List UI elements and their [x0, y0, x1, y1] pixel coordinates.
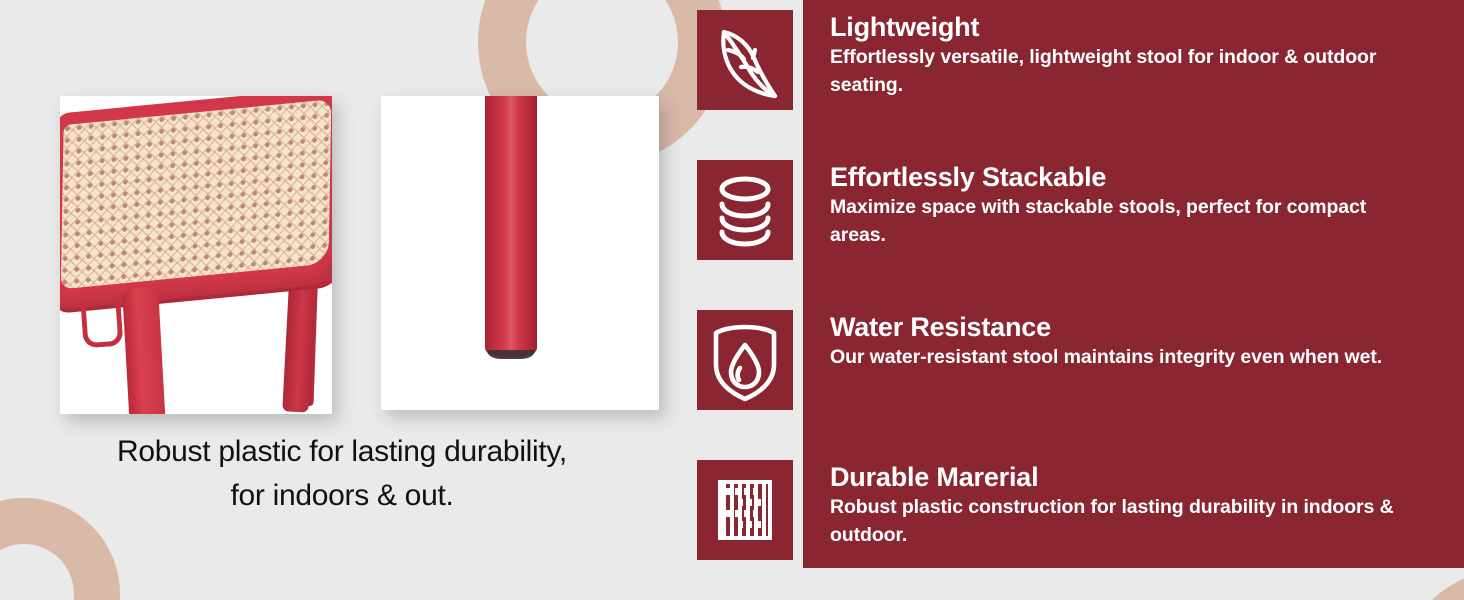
- stool-leg-closeup-photo: [381, 96, 659, 410]
- feature-row-lightweight: Lightweight Effortlessly versatile, ligh…: [803, 0, 1464, 150]
- feature-icon-tile-durable-material: [697, 460, 793, 560]
- feature-icon-tile-lightweight: [697, 10, 793, 110]
- feature-title-stackable: Effortlessly Stackable: [830, 162, 1444, 192]
- stool-leg-front: [122, 287, 166, 414]
- feature-desc-durable-material: Robust plastic construction for lasting …: [830, 494, 1420, 549]
- feature-title-durable-material: Durable Marerial: [830, 462, 1444, 492]
- stool-seat-frame: [60, 96, 332, 310]
- mesh-brick-icon: [718, 480, 772, 540]
- stool-leg-tube: [485, 96, 537, 358]
- stacked-discs-icon: [697, 160, 793, 260]
- feature-row-stackable: Effortlessly Stackable Maximize space wi…: [803, 150, 1464, 300]
- left-caption-line-1: Robust plastic for lasting durability,: [24, 430, 660, 474]
- left-caption-line-2: for indoors & out.: [24, 474, 660, 518]
- leaf-icon: [697, 10, 793, 110]
- feature-desc-water-resistance: Our water-resistant stool maintains inte…: [830, 344, 1420, 372]
- product-photo-section: Robust plastic for lasting durability, f…: [0, 0, 684, 600]
- feature-title-water-resistance: Water Resistance: [830, 312, 1444, 342]
- stool-leg-foot-cap: [487, 350, 535, 359]
- feature-desc-lightweight: Effortlessly versatile, lightweight stoo…: [830, 44, 1420, 99]
- mesh-brick-icon-rows: [726, 488, 764, 532]
- features-panel: Lightweight Effortlessly versatile, ligh…: [803, 0, 1464, 568]
- stool-seat-illustration: [60, 96, 332, 414]
- feature-title-lightweight: Lightweight: [830, 12, 1444, 42]
- feature-icon-tile-stackable: [697, 160, 793, 260]
- left-caption: Robust plastic for lasting durability, f…: [24, 430, 660, 518]
- stool-seat-closeup-photo: [60, 96, 332, 414]
- shield-water-drop-icon: [697, 310, 793, 410]
- infographic-canvas: Robust plastic for lasting durability, f…: [0, 0, 1464, 600]
- feature-icon-tile-water-resistance: [697, 310, 793, 410]
- stool-stack-hook: [80, 301, 123, 349]
- feature-row-water-resistance: Water Resistance Our water-resistant sto…: [803, 300, 1464, 450]
- feature-desc-stackable: Maximize space with stackable stools, pe…: [830, 194, 1420, 249]
- feature-row-durable-material: Durable Marerial Robust plastic construc…: [803, 450, 1464, 600]
- stool-seat-rattan-weave: [61, 99, 332, 289]
